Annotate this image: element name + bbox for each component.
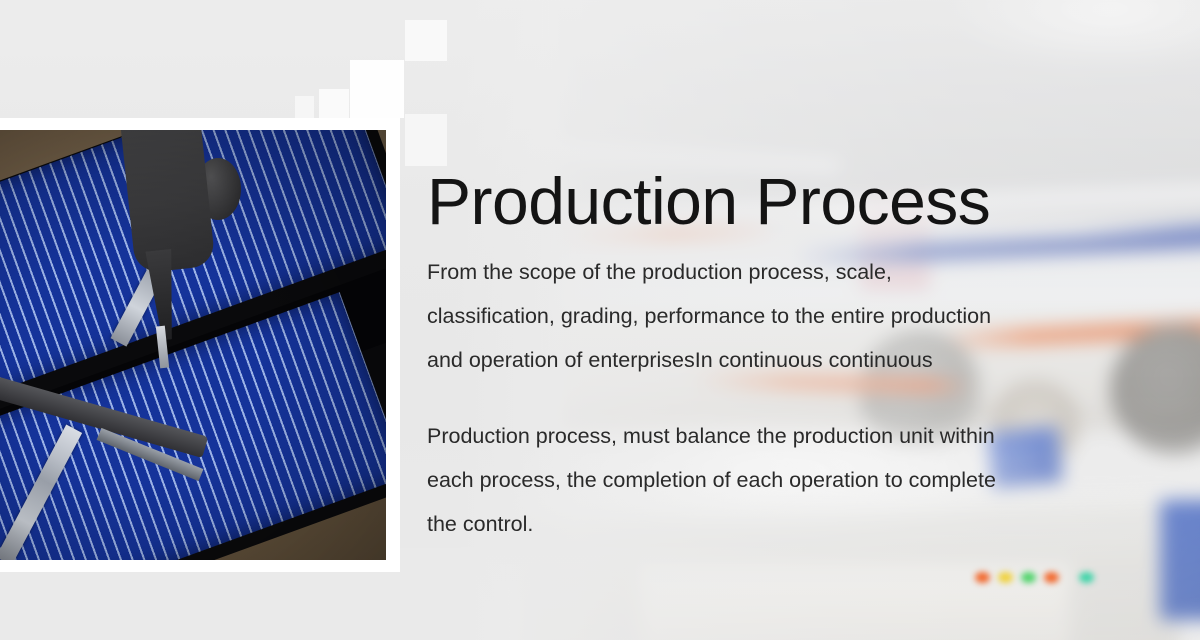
led-orange-1 [975,572,990,583]
paragraph-2-line-2: each process, the completion of each ope… [427,458,1157,502]
page-title: Production Process [427,168,1157,234]
deco-square-large [350,60,404,118]
deco-square-lower-right [405,114,447,166]
slide-content: Production Process From the scope of the… [427,168,1157,546]
deco-square-small-mid [319,89,349,118]
deco-square-small-left [295,96,314,118]
paragraph-1-line-2: classification, grading, performance to … [427,294,1157,338]
bg-blue-crate-2 [1160,500,1200,620]
solar-cell-soldering-photo [0,130,386,560]
led-green-2 [1079,572,1094,583]
photo-frame [0,118,400,572]
led-yellow [998,572,1013,583]
body-paragraph-1: From the scope of the production process… [427,250,1157,382]
machine-indicator-lights [975,572,1094,583]
paragraph-1-line-3: and operation of enterprisesIn continuou… [427,338,1157,382]
slide-production-process: Production Process From the scope of the… [0,0,1200,640]
paragraph-spacer [427,382,1157,414]
paragraph-1-line-1: From the scope of the production process… [427,250,1157,294]
photo-vignette [0,130,386,560]
bg-ceiling-glow [940,0,1200,70]
led-green-1 [1021,572,1036,583]
body-paragraph-2: Production process, must balance the pro… [427,414,1157,546]
led-orange-2 [1044,572,1059,583]
paragraph-2-line-1: Production process, must balance the pro… [427,414,1157,458]
paragraph-2-line-3: the control. [427,502,1157,546]
deco-square-top-right [405,20,447,61]
